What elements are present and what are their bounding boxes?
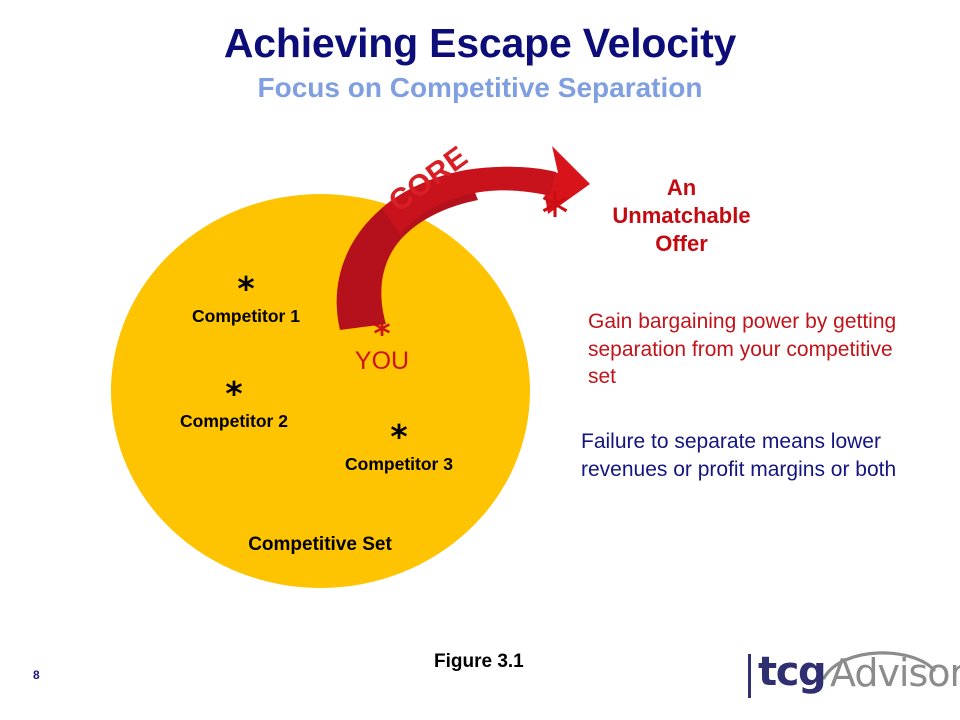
marker-competitor-2: * Competitor 2 [164,382,304,432]
marker-label: Competitor 3 [329,454,469,475]
asterisk-icon: * [329,425,469,449]
page-subtitle: Focus on Competitive Separation [0,71,960,105]
logo-mark: tcg [758,650,825,695]
asterisk-icon-offer: * [534,190,576,244]
unmatchable-offer-title: An Unmatchable Offer [584,174,779,258]
logo-wordmark: Advisors [830,652,960,695]
tcg-advisors-logo: tcg Advisors [748,650,948,706]
title-block: Achieving Escape Velocity Focus on Compe… [0,22,960,104]
figure-caption: Figure 3.1 [434,651,524,673]
marker-label: Competitor 1 [176,306,316,327]
marker-competitor-1: * Competitor 1 [176,277,316,327]
offer-title-line-2: Unmatchable [584,202,779,230]
logo-divider [748,654,751,698]
marker-competitor-3: * Competitor 3 [329,425,469,475]
offer-title-line-3: Offer [584,230,779,258]
paragraph-bargaining-power: Gain bargaining power by getting separat… [588,308,918,391]
slide-canvas: Achieving Escape Velocity Focus on Compe… [0,0,960,720]
offer-title-line-1: An [584,174,779,202]
marker-label: YOU [322,347,442,376]
page-title: Achieving Escape Velocity [0,22,960,65]
asterisk-icon: * [164,382,304,406]
marker-label: Competitor 2 [164,411,304,432]
competitive-set-label: Competitive Set [170,534,470,556]
page-number: 8 [33,668,40,682]
paragraph-failure-to-separate: Failure to separate means lower revenues… [581,428,911,483]
asterisk-icon: * [176,277,316,301]
